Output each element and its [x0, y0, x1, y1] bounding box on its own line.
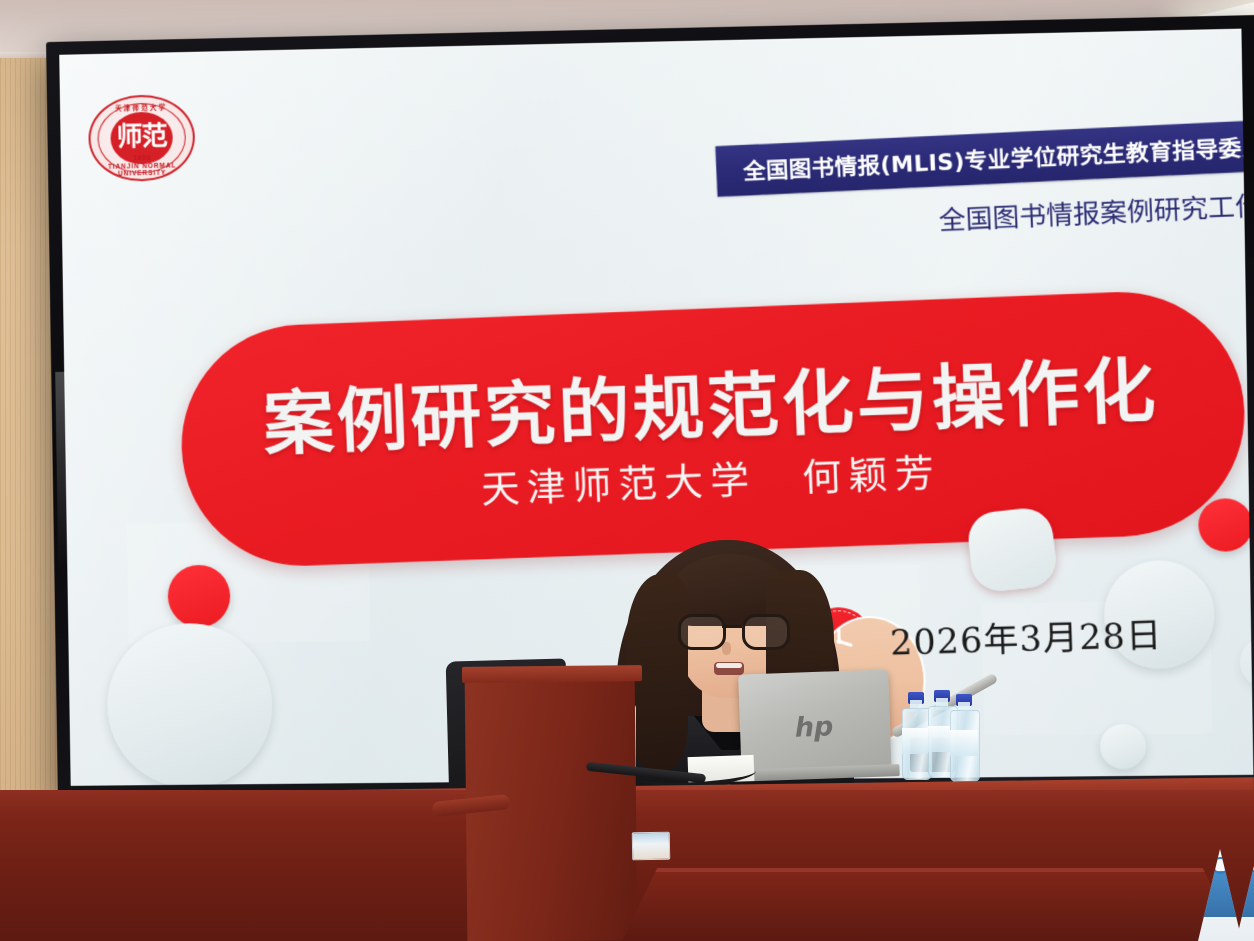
presentation-room-photo: 天津师范大学 师范 1958 TIANJIN NORMAL UNIVERSITY…	[0, 0, 1254, 941]
water-bottle	[902, 692, 930, 778]
decor-dot-gray-large-left	[106, 622, 273, 786]
title-banner: 案例研究的规范化与操作化 天津师范大学 何颖芳	[177, 287, 1249, 570]
podium-top	[462, 665, 642, 683]
decor-dot-red-right	[1198, 498, 1253, 552]
logo-mark-characters: 师范	[110, 113, 173, 160]
presenter-teeth	[716, 663, 742, 668]
university-logo: 天津师范大学 师范 1958 TIANJIN NORMAL UNIVERSITY	[88, 94, 196, 182]
glasses-lens-left	[678, 614, 726, 650]
slide-date: 2026年3月28日	[889, 607, 1163, 665]
bottle-label	[950, 730, 978, 756]
committee-banner: 全国图书情报(MLIS)专业学位研究生教育指导委员会	[715, 119, 1253, 197]
desk-front-panel	[620, 868, 1240, 941]
glasses-bridge	[722, 625, 742, 628]
water-bottle	[950, 694, 978, 780]
event-title-line: 全国图书情报案例研究工作坊	[770, 182, 1254, 247]
laptop: hp	[738, 669, 892, 782]
decor-rounded-square	[966, 506, 1059, 594]
glasses-lens-right	[742, 614, 790, 650]
decor-dot-gray-edge	[1240, 636, 1254, 688]
event-title-text: 全国图书情报案例研究工作坊	[938, 183, 1253, 237]
decor-dot-gray-small-right	[1100, 724, 1146, 769]
logo-english-name: TIANJIN NORMAL UNIVERSITY	[89, 162, 195, 178]
glasses-icon	[676, 614, 788, 644]
presenter-mouth	[714, 662, 744, 675]
podium-label-sticker	[632, 832, 670, 861]
committee-banner-text: 全国图书情报(MLIS)专业学位研究生教育指导委员会	[742, 128, 1253, 186]
hp-logo-icon: hp	[790, 711, 839, 743]
bottle-label	[902, 728, 930, 754]
